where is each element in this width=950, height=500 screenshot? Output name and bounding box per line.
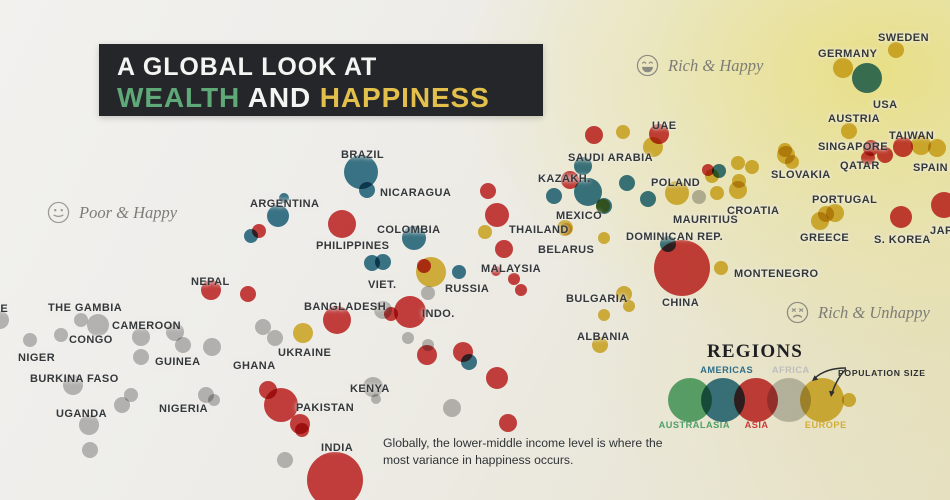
country-label-malaysia: MALAYSIA [481, 263, 541, 275]
country-label-pakistan: PAKISTAN [296, 402, 354, 414]
quadrant-rich-happy: Rich & Happy [636, 54, 763, 77]
bubble-unlabeled-36 [619, 175, 635, 191]
country-label-nepal: NEPAL [191, 276, 230, 288]
country-label-belarus: BELARUS [538, 244, 594, 256]
quadrant-rich-unhappy-label: Rich & Unhappy [818, 303, 930, 323]
bubble-india [307, 452, 363, 500]
country-label-germany: GERMANY [818, 48, 877, 60]
bubble-unlabeled-24 [244, 229, 258, 243]
legend-title: REGIONS [707, 341, 803, 363]
bubble-guinea [133, 349, 149, 365]
country-label-guinea: GUINEA [155, 356, 200, 368]
bubble-unlabeled-20 [421, 286, 435, 300]
bubble-unlabeled-32 [598, 232, 610, 244]
country-label-japan: JAP [930, 225, 950, 237]
bubble-unlabeled-45 [585, 126, 603, 144]
title-word-and: AND [240, 82, 320, 113]
country-label-nicaragua: NICARAGUA [380, 187, 451, 199]
country-label-austria: AUSTRIA [828, 113, 880, 125]
bubble-malaysia [495, 240, 513, 258]
country-label-greece: GREECE [800, 232, 849, 244]
country-label-uganda: UGANDA [56, 408, 107, 420]
bubble-usa [852, 63, 882, 93]
country-label-burkina-faso: BURKINA FASO [30, 373, 119, 385]
country-label-mexico: MEXICO [556, 210, 602, 222]
bubble-austria [841, 123, 857, 139]
bubble-slovakia [777, 146, 795, 164]
quadrant-rich-unhappy: Rich & Unhappy [786, 301, 930, 324]
bubble-unlabeled-50 [731, 156, 745, 170]
country-label-indo: INDO. [422, 308, 455, 320]
country-label-montenegro: MONTENEGRO [734, 268, 819, 280]
bubble-unlabeled-6 [208, 394, 220, 406]
footer-caption: Globally, the lower-middle income level … [383, 435, 673, 468]
unhappy-face-icon [786, 301, 809, 324]
country-label-spain: SPAIN [913, 162, 948, 174]
bubble-sweden [888, 42, 904, 58]
bubble-unlabeled-16 [402, 332, 414, 344]
country-label-bangladesh: BANGLADESH [304, 301, 386, 313]
bubble-unlabeled-57 [712, 164, 726, 178]
country-label-niger: NIGER [18, 352, 55, 364]
country-label-singapore: SINGAPORE [818, 141, 888, 153]
bubble-unlabeled-43 [443, 399, 461, 417]
bubble-pakistan [264, 388, 298, 422]
country-label-cameroon: CAMEROON [112, 320, 181, 332]
country-label-qatar: QATAR [840, 160, 880, 172]
country-label-poland: POLAND [651, 177, 700, 189]
country-label-argentina: ARGENTINA [250, 198, 319, 210]
bubble-ukraine [293, 323, 313, 343]
bubble-unlabeled-4 [175, 337, 191, 353]
bubble-the-gambia [74, 313, 88, 327]
country-label-kenya: KENYA [350, 383, 390, 395]
bubble-philippines [328, 210, 356, 238]
title-word-happiness: HAPPINESS [320, 82, 490, 113]
bubble-japan [931, 192, 950, 218]
bubble-unlabeled-42 [486, 367, 508, 389]
country-label-colombia: COLOMBIA [377, 224, 440, 236]
title-plate: A GLOBAL LOOK AT WEALTH AND HAPPINESS [99, 44, 543, 116]
bubble-unlabeled-2 [82, 442, 98, 458]
country-label-thailand: THAILAND [509, 224, 569, 236]
quadrant-poor-happy-label: Poor & Happy [79, 203, 177, 223]
bubble-unlabeled-28 [480, 183, 496, 199]
bubble-unlabeled-46 [616, 125, 630, 139]
bubble-congo [54, 328, 68, 342]
country-label-s-korea: S. KOREA [874, 234, 931, 246]
bubble-unlabeled-44 [499, 414, 517, 432]
country-label-ukraine: UKRAINE [278, 347, 331, 359]
country-label-congo: CONGO [69, 334, 113, 346]
title-line-1: A GLOBAL LOOK AT [117, 53, 377, 82]
country-label-bulgaria: BULGARIA [566, 293, 628, 305]
bubble-unlabeled-30 [515, 284, 527, 296]
bubble-niger [87, 314, 109, 336]
country-label-brazil: BRAZIL [341, 149, 384, 161]
country-label-kazakh: KAZAKH. [538, 173, 591, 185]
country-label-russia: RUSSIA [445, 283, 489, 295]
quadrant-poor-happy: Poor & Happy [47, 201, 177, 224]
country-label-ghana: GHANA [233, 360, 276, 372]
bubble-unlabeled-9 [267, 330, 283, 346]
title-word-wealth: WEALTH [117, 82, 240, 113]
country-label-mozambique: UE [0, 303, 8, 315]
country-label-usa: USA [873, 99, 898, 111]
title-line-2: WEALTH AND HAPPINESS [117, 82, 490, 114]
country-label-saudi-arabia: SAUDI ARABIA [568, 152, 653, 164]
bubble-unlabeled-13 [295, 423, 309, 437]
bubble-viet [364, 255, 380, 271]
country-label-uae: UAE [652, 120, 677, 132]
bubble-unlabeled-10 [277, 452, 293, 468]
bubble-montenegro [714, 261, 728, 275]
legend-label-asia: ASIA [745, 420, 769, 430]
bubble-croatia [729, 181, 747, 199]
bubble-ghana [203, 338, 221, 356]
bubble-mauritius [692, 190, 706, 204]
country-label-china: CHINA [662, 297, 699, 309]
country-label-the-gambia: THE GAMBIA [48, 302, 122, 314]
bubble-unlabeled-40 [453, 342, 473, 362]
bubble-russia [416, 257, 446, 287]
bubble-unlabeled-7 [240, 286, 256, 302]
quadrant-rich-happy-label: Rich & Happy [668, 56, 763, 76]
legend-label-africa: AFRICA [772, 365, 810, 375]
country-label-india: INDIA [321, 442, 353, 454]
bubble-unlabeled-27 [478, 225, 492, 239]
country-label-albania: ALBANIA [577, 331, 630, 343]
population-size-label: POPULATION SIZE [838, 368, 926, 378]
bubble-unlabeled-52 [745, 160, 759, 174]
bubble-s-korea [890, 206, 912, 228]
bubble-unlabeled-38 [598, 309, 610, 321]
bubble-unlabeled-56 [640, 191, 656, 207]
bubble-unlabeled-0 [23, 333, 37, 347]
bubble-greece [811, 212, 829, 230]
country-label-croatia: CROATIA [727, 205, 779, 217]
bubble-unlabeled-25 [452, 265, 466, 279]
bubble-china [654, 240, 710, 296]
bubble-germany [833, 58, 853, 78]
country-label-nigeria: NIGERIA [159, 403, 208, 415]
legend-label-europe: EUROPE [805, 420, 847, 430]
country-label-philippines: PHILIPPINES [316, 240, 389, 252]
bubble-nigeria [124, 388, 138, 402]
infographic-canvas: UENIGERTHE GAMBIACONGOBURKINA FASOUGANDA… [0, 0, 950, 500]
bubble-thailand [485, 203, 509, 227]
bubble-nicaragua [359, 182, 375, 198]
country-label-taiwan: TAIWAN [889, 130, 934, 142]
smiling-face-icon [636, 54, 659, 77]
country-label-sweden: SWEDEN [878, 32, 929, 44]
legend-label-americas: AMERICAS [700, 365, 753, 375]
bubble-unlabeled-34 [546, 188, 562, 204]
country-label-slovakia: SLOVAKIA [771, 169, 831, 181]
country-label-dominican-rep: DOMINICAN REP. [626, 231, 723, 243]
bubble-unlabeled-49 [710, 186, 724, 200]
country-label-viet: VIET. [368, 279, 397, 291]
bubble-unlabeled-41 [417, 345, 437, 365]
neutral-face-icon [47, 201, 70, 224]
country-label-portugal: PORTUGAL [812, 194, 877, 206]
